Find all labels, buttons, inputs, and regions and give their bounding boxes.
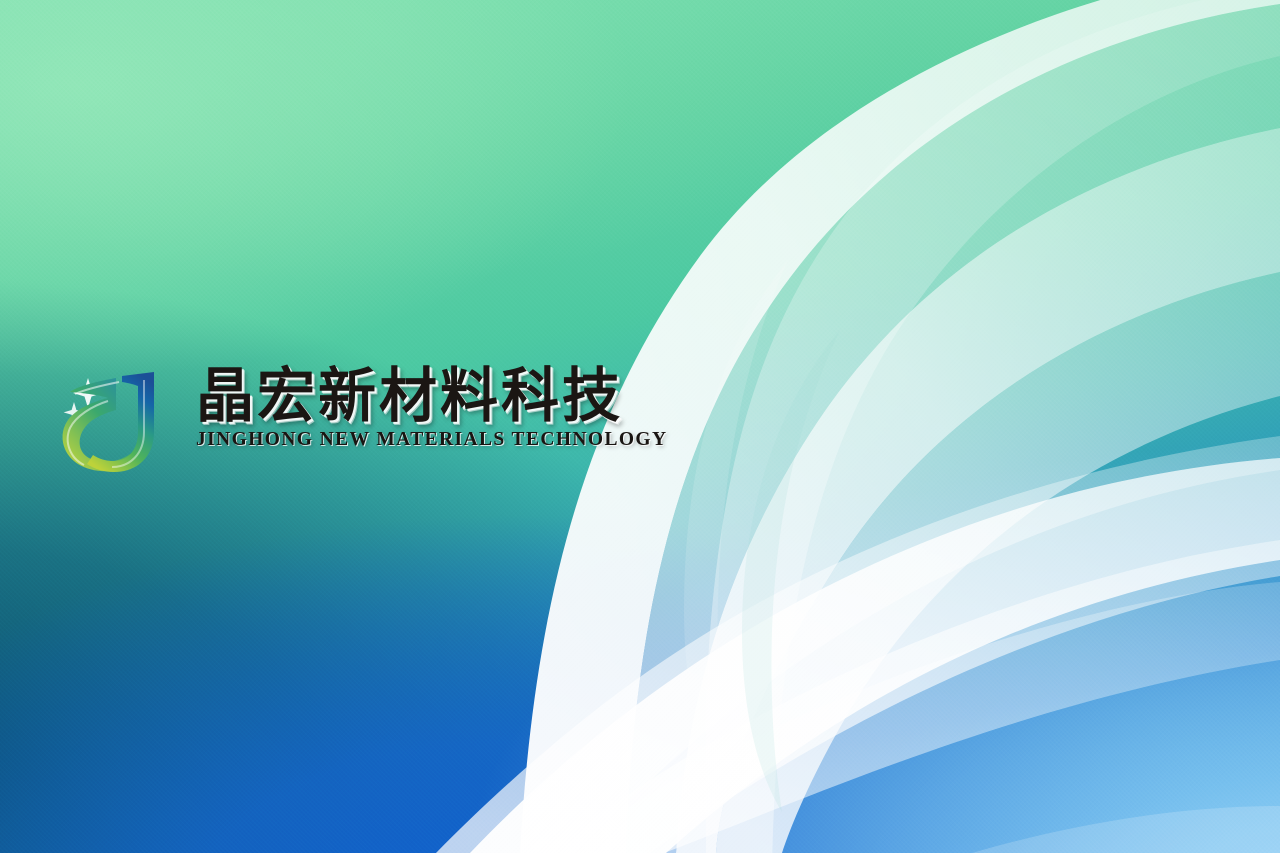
brand-name-en: JINGHONG NEW MATERIALS TECHNOLOGY — [196, 429, 667, 451]
brand-logo: 晶宏新材料科技 JINGHONG NEW MATERIALS TECHNOLOG… — [56, 366, 667, 478]
ribbon-arc-10 — [972, 806, 1280, 853]
brand-name-cn: 晶宏新材料科技 — [196, 366, 623, 425]
brand-banner: 晶宏新材料科技 JINGHONG NEW MATERIALS TECHNOLOG… — [0, 0, 1280, 853]
logo-wordmark: 晶宏新材料科技 JINGHONG NEW MATERIALS TECHNOLOG… — [196, 366, 667, 451]
logo-mark — [56, 370, 184, 478]
